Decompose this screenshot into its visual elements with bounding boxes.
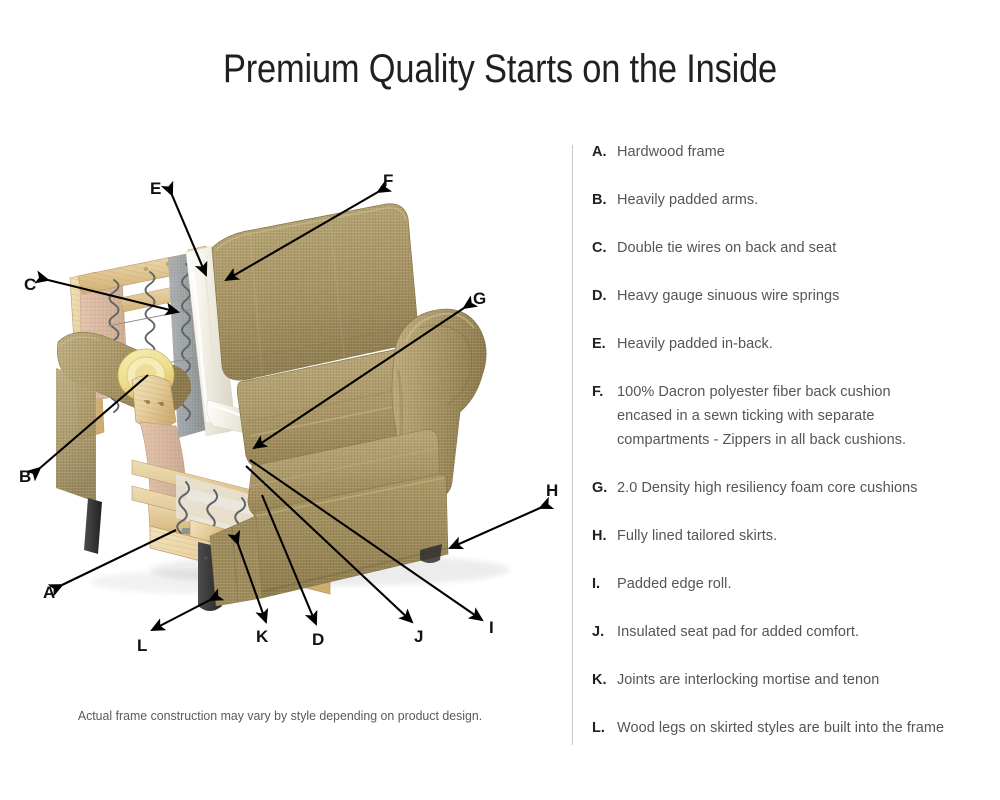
callout-label-L: L — [137, 636, 147, 655]
arrow-L — [152, 600, 210, 630]
legend-item-g: G. 2.0 Density high resiliency foam core… — [592, 476, 992, 524]
legend-item-l: L. Wood legs on skirted styles are built… — [592, 716, 992, 764]
callout-label-A: A — [43, 583, 55, 602]
legend-letter-d: D. — [592, 284, 612, 308]
legend-letter-l: L. — [592, 716, 612, 740]
diagram-caption: Actual frame construction may vary by st… — [14, 708, 546, 723]
upholstered-chair — [186, 204, 486, 606]
legend-text-f-line1: 100% Dacron polyester fiber back cushion — [617, 380, 906, 404]
callout-label-J: J — [414, 627, 423, 646]
legend-list: A. Hardwood frame B. Heavily padded arms… — [592, 140, 992, 764]
legend-item-k: K. Joints are interlocking mortise and t… — [592, 668, 992, 716]
legend-item-d: D. Heavy gauge sinuous wire springs — [592, 284, 992, 332]
legend-item-c: C. Double tie wires on back and seat — [592, 236, 992, 284]
rear-wood-leg — [84, 498, 102, 554]
legend-letter-i: I. — [592, 572, 612, 596]
legend-item-i: I. Padded edge roll. — [592, 572, 992, 620]
legend-text-h: Fully lined tailored skirts. — [617, 524, 777, 548]
legend-letter-j: J. — [592, 620, 612, 644]
legend-item-b: B. Heavily padded arms. — [592, 188, 992, 236]
legend-text-l: Wood legs on skirted styles are built in… — [617, 716, 944, 740]
legend-text-f: 100% Dacron polyester fiber back cushion… — [617, 380, 906, 452]
legend-item-f: F. 100% Dacron polyester fiber back cush… — [592, 380, 992, 476]
legend-text-b: Heavily padded arms. — [617, 188, 758, 212]
legend-letter-g: G. — [592, 476, 612, 500]
callout-label-F: F — [383, 171, 393, 190]
callout-label-G: G — [473, 289, 486, 308]
page-root: Premium Quality Starts on the Inside — [0, 0, 1000, 800]
legend-text-a: Hardwood frame — [617, 140, 725, 164]
arrow-H — [450, 508, 540, 548]
legend-letter-e: E. — [592, 332, 612, 356]
legend-text-c: Double tie wires on back and seat — [617, 236, 836, 260]
legend-letter-c: C. — [592, 236, 612, 260]
legend-letter-f: F. — [592, 380, 612, 404]
callout-label-C: C — [24, 275, 36, 294]
legend-text-k: Joints are interlocking mortise and teno… — [617, 668, 879, 692]
legend-text-g: 2.0 Density high resiliency foam core cu… — [617, 476, 918, 500]
chair-cutaway-diagram: A B C D E F G H I J K L — [0, 130, 572, 690]
legend-text-f-line3: compartments - Zippers in all back cushi… — [617, 428, 906, 452]
legend-letter-k: K. — [592, 668, 612, 692]
callout-label-E: E — [150, 179, 161, 198]
callout-label-K: K — [256, 627, 269, 646]
legend-text-e: Heavily padded in-back. — [617, 332, 773, 356]
legend-text-f-line2: encased in a sewn ticking with separate — [617, 404, 906, 428]
legend-letter-h: H. — [592, 524, 612, 548]
callout-label-H: H — [546, 481, 558, 500]
callout-label-D: D — [312, 630, 324, 649]
legend-item-a: A. Hardwood frame — [592, 140, 992, 188]
rear-side-panel-fabric — [56, 368, 96, 502]
page-title: Premium Quality Starts on the Inside — [70, 46, 930, 92]
legend-text-d: Heavy gauge sinuous wire springs — [617, 284, 839, 308]
legend-item-e: E. Heavily padded in-back. — [592, 332, 992, 380]
legend-letter-a: A. — [592, 140, 612, 164]
vertical-divider — [572, 145, 573, 745]
legend-letter-b: B. — [592, 188, 612, 212]
callout-label-B: B — [19, 467, 31, 486]
callout-label-I: I — [489, 618, 494, 637]
legend-item-h: H. Fully lined tailored skirts. — [592, 524, 992, 572]
legend-item-j: J. Insulated seat pad for added comfort. — [592, 620, 992, 668]
legend-text-j: Insulated seat pad for added comfort. — [617, 620, 859, 644]
legend-text-i: Padded edge roll. — [617, 572, 732, 596]
